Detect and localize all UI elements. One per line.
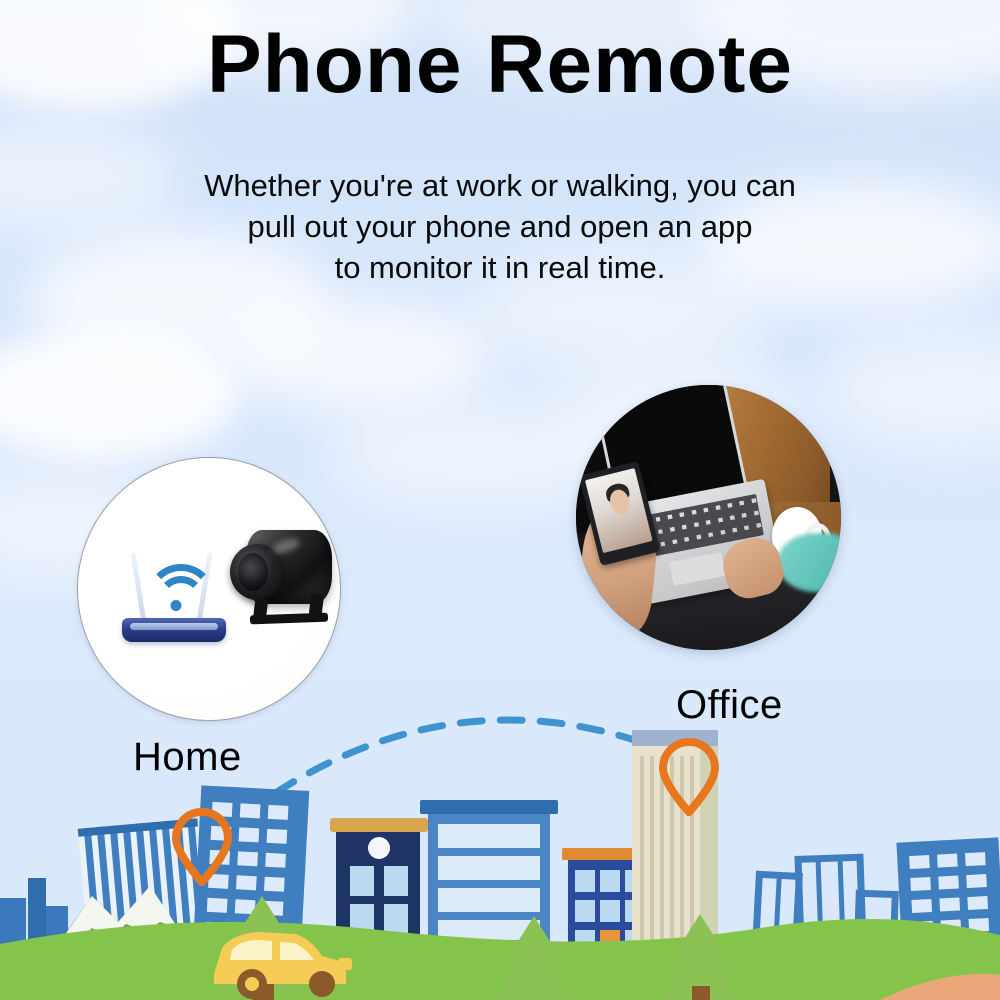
- label-home: Home: [133, 735, 242, 780]
- map-pin-home[interactable]: [172, 808, 232, 886]
- subtitle-line-3: to monitor it in real time.: [0, 247, 1000, 288]
- router-antenna-left: [130, 552, 146, 624]
- poster-canvas: Phone Remote Whether you're at work or w…: [0, 0, 1000, 1000]
- wifi-arc-inner: [157, 576, 205, 624]
- cloud-decoration: [820, 330, 1000, 450]
- camera-foot-right: [309, 594, 324, 614]
- wifi-icon: [150, 564, 212, 614]
- subtitle-line-1: Whether you're at work or walking, you c…: [0, 165, 1000, 206]
- photo-circle: [576, 385, 841, 650]
- camera-lens: [238, 553, 268, 591]
- desk-photo: [576, 385, 841, 650]
- page-subtitle: Whether you're at work or walking, you c…: [0, 165, 1000, 288]
- wifi-dot: [170, 600, 181, 611]
- page-title: Phone Remote: [0, 22, 1000, 108]
- pin-outline: [663, 742, 715, 812]
- pin-outline: [176, 812, 228, 882]
- map-pin-office[interactable]: [659, 738, 719, 816]
- cloud-decoration: [230, 300, 490, 410]
- label-office: Office: [676, 683, 783, 728]
- cloud-decoration: [0, 330, 240, 460]
- phone-screen: [585, 469, 653, 553]
- subtitle-line-2: pull out your phone and open an app: [0, 206, 1000, 247]
